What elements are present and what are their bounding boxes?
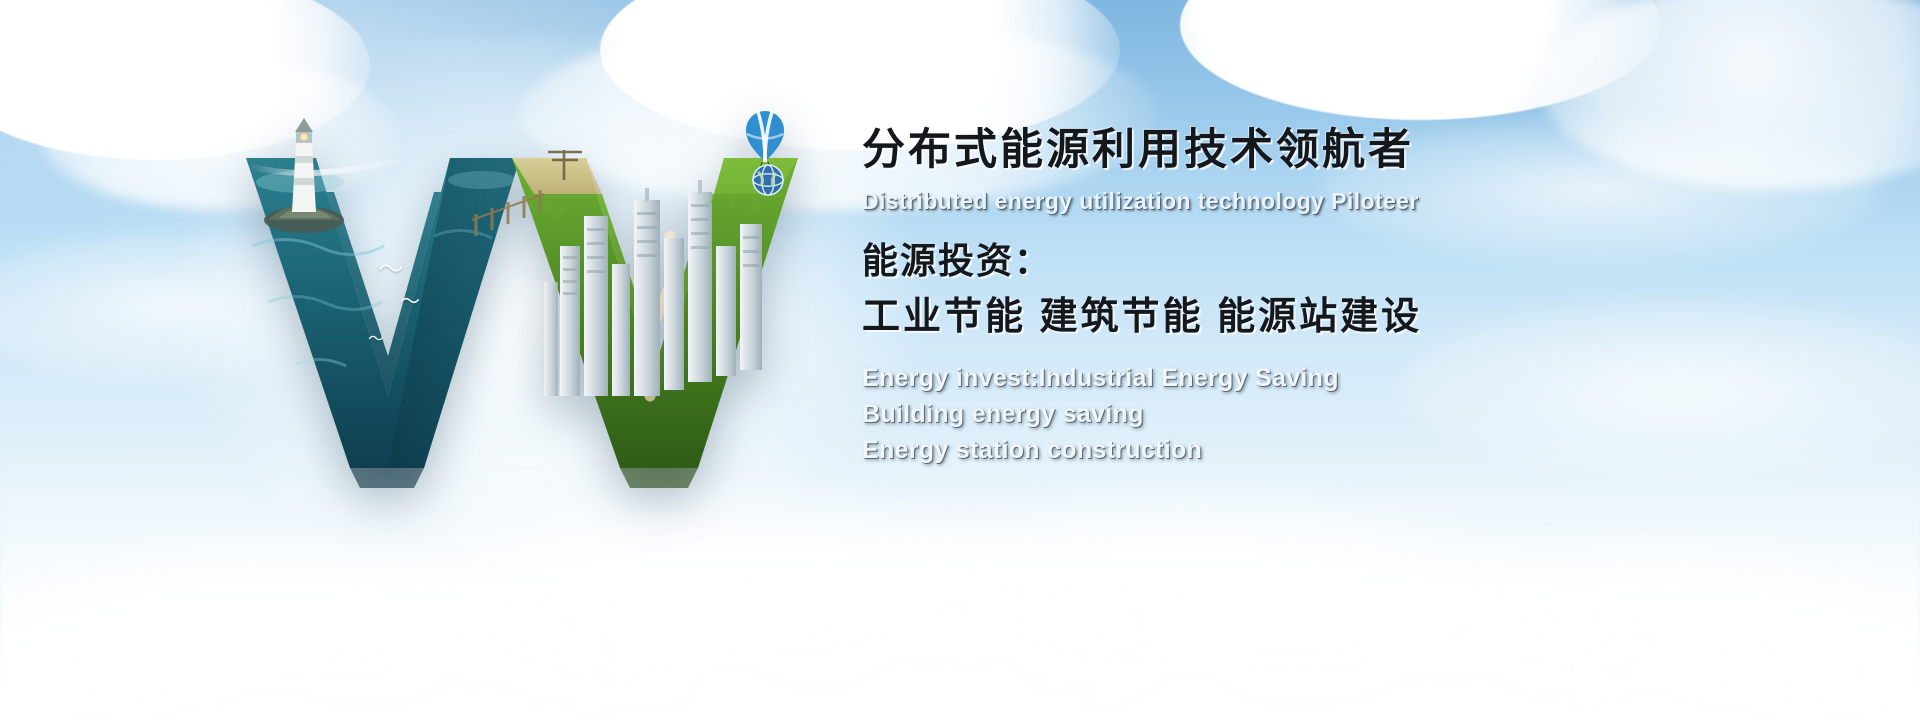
banner-copy: 分布式能源利用技术领航者 Distributed energy utilizat… — [862, 126, 1872, 469]
service-line-2: Building energy saving — [862, 396, 1872, 432]
service-line-1: Energy invest:Industrial Energy Saving — [862, 360, 1872, 396]
company-logo-w: 〜 〜 〜 — [238, 96, 848, 516]
seagull-icon-3: 〜 — [368, 332, 384, 348]
seagull-icon-2: 〜 — [400, 292, 420, 312]
headline-chinese: 分布式能源利用技术领航者 — [862, 126, 1872, 174]
hero-banner: 〜 〜 〜 分布式能源利用技术领航者 Distributed energy ut… — [0, 0, 1920, 720]
dune-fence — [460, 140, 610, 260]
services-chinese: 工业节能 建筑节能 能源站建设 — [862, 293, 1872, 342]
subheadline-english: Distributed energy utilization technolog… — [862, 188, 1872, 216]
seagull-icon-1: 〜 — [378, 256, 404, 282]
service-line-3: Energy station construction — [862, 432, 1872, 468]
globe-icon — [753, 165, 783, 195]
energy-invest-label: 能源投资： — [862, 238, 1872, 285]
